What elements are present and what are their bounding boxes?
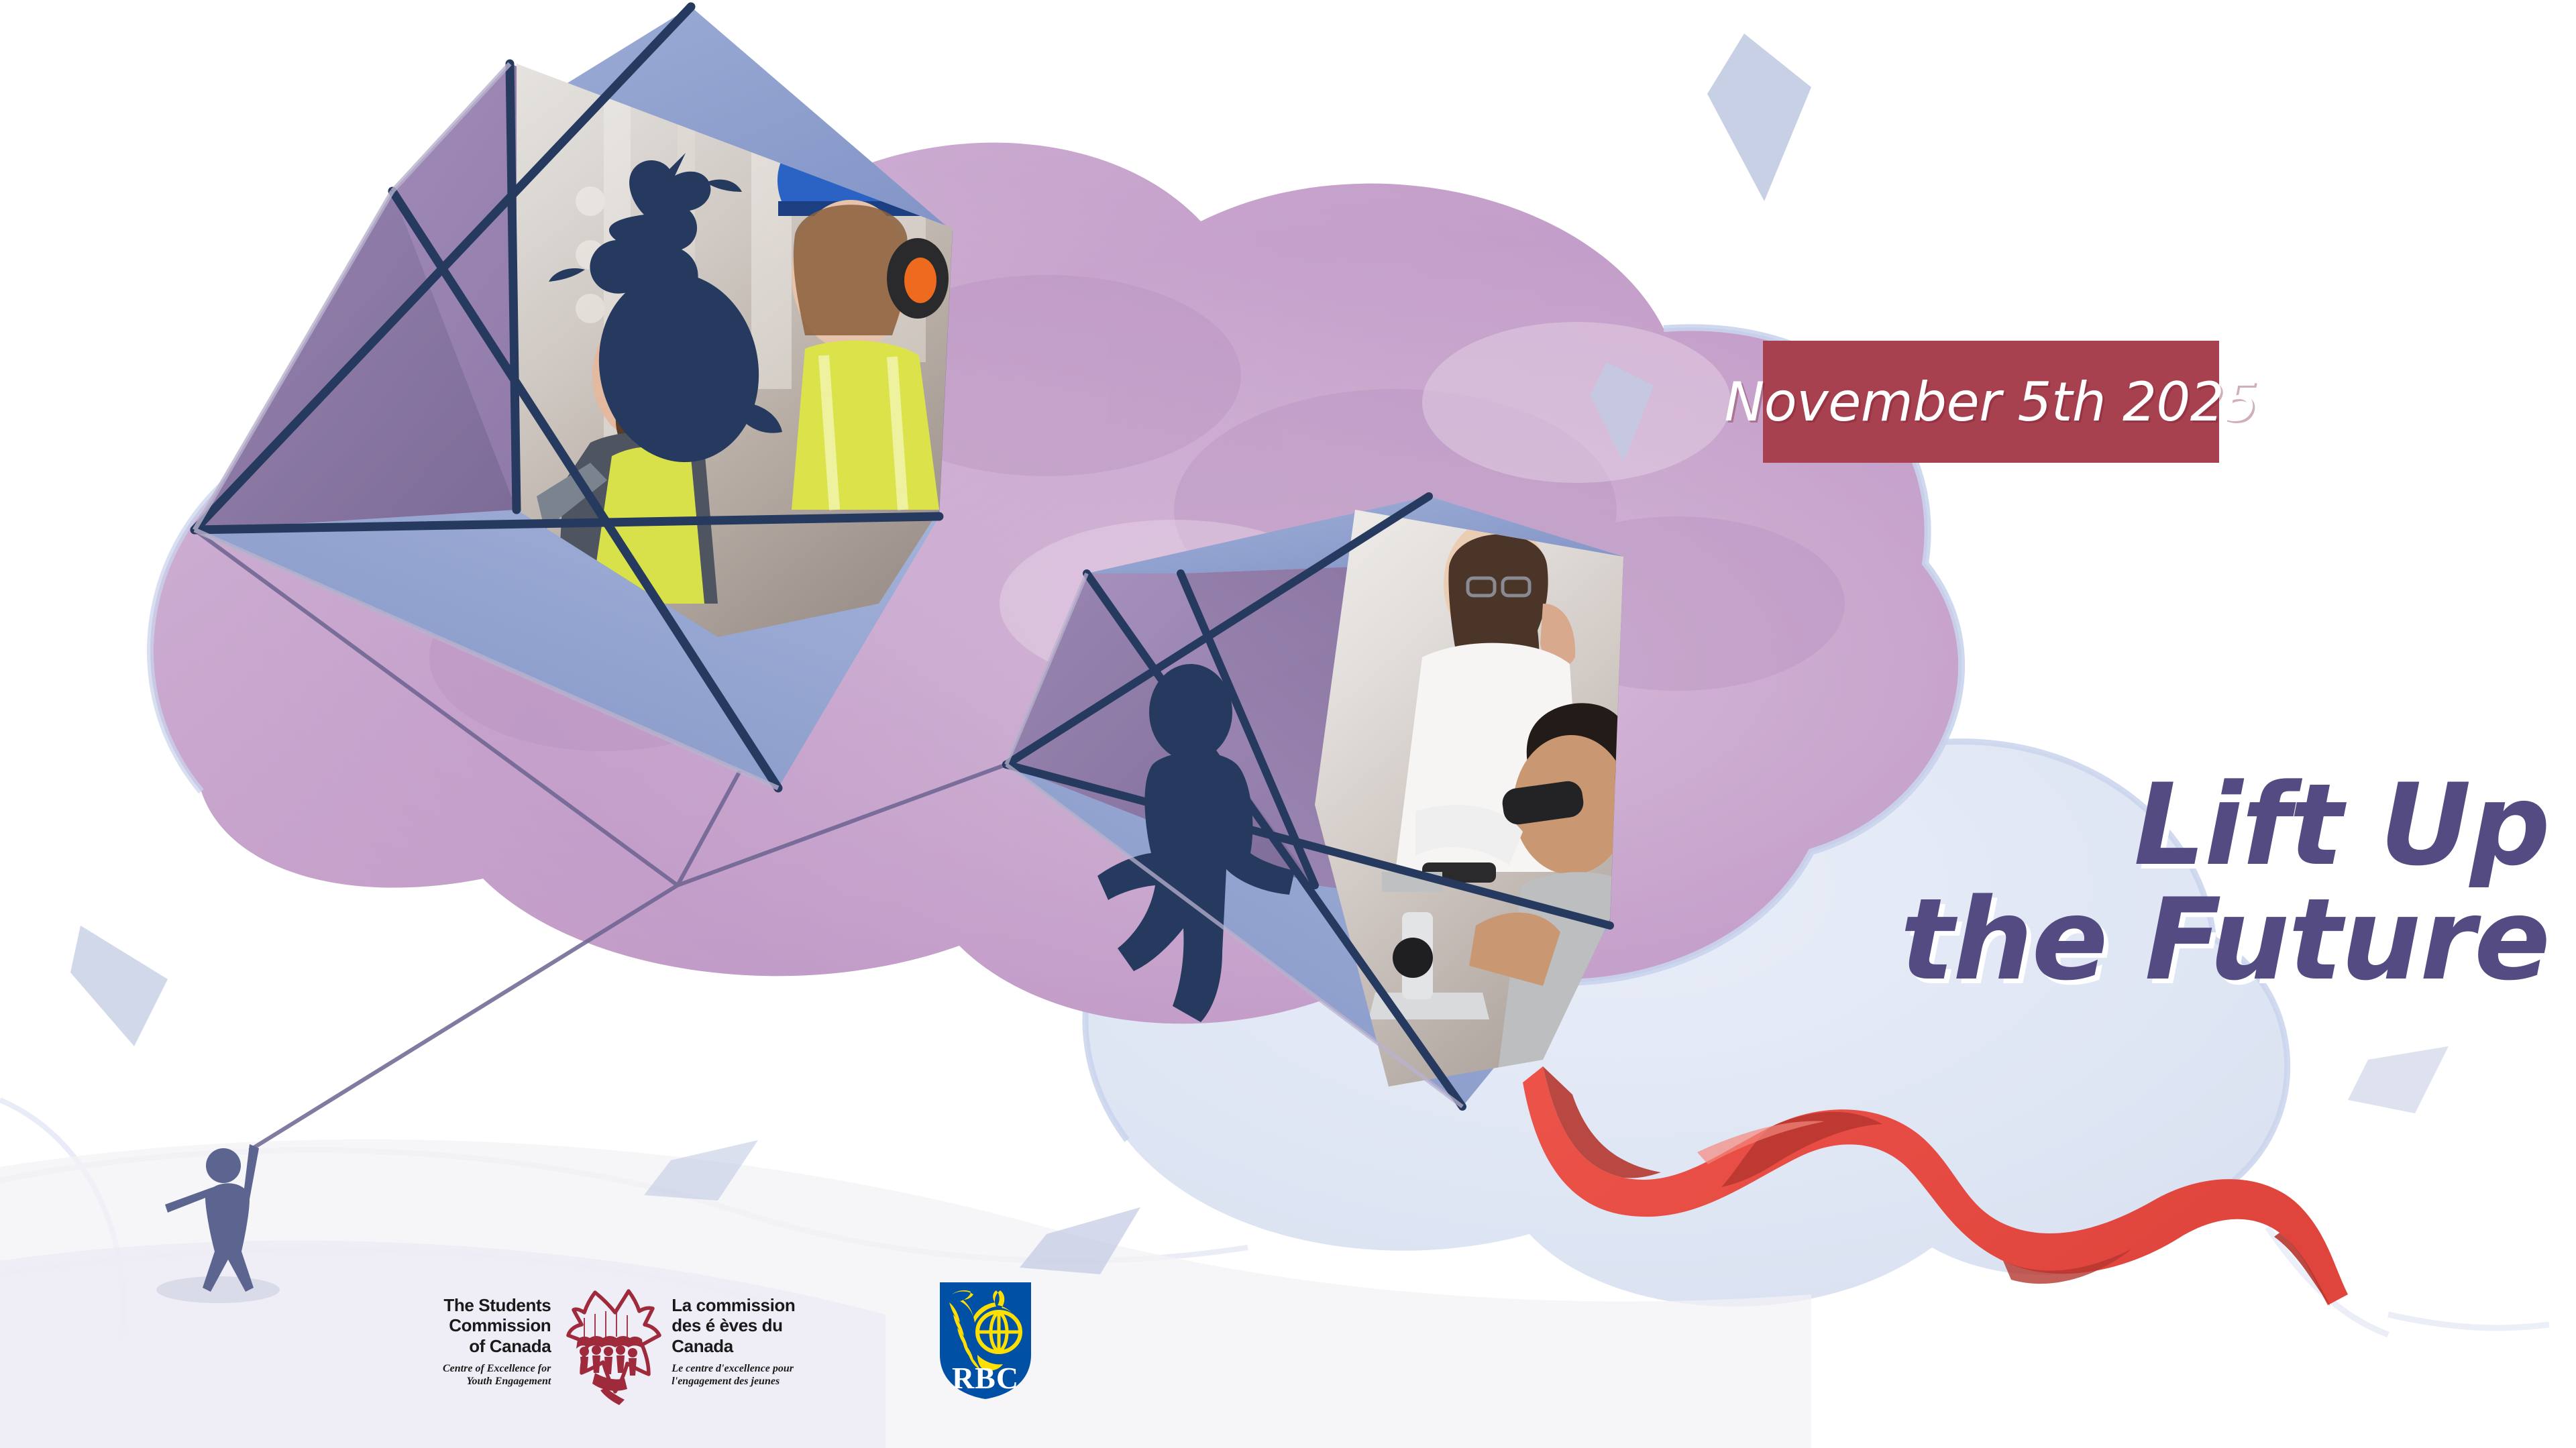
scc-english-tagline: Centre of Excellence for Youth Engagemen… <box>443 1362 551 1388</box>
diamond-6 <box>2348 1046 2449 1113</box>
scc-french-name: La commission des é èves du Canada <box>672 1295 795 1357</box>
scc-english-block: The Students Commission of Canada Centre… <box>443 1295 551 1388</box>
scc-en-tag-1: Centre of Excellence for <box>443 1362 551 1375</box>
scc-fr-line-3: Canada <box>672 1336 795 1357</box>
scc-english-name: The Students Commission of Canada <box>443 1295 551 1357</box>
scc-en-line-3: of Canada <box>443 1336 551 1357</box>
rbc-shield-icon: RBC <box>936 1280 1035 1400</box>
date-banner: November 5th 2025 <box>1763 341 2219 463</box>
scc-en-tag-2: Youth Engagement <box>443 1375 551 1388</box>
scc-fr-line-2: des é èves du <box>672 1315 795 1336</box>
page-title: Lift Up the Future <box>1677 768 2549 998</box>
flyer-shadow <box>156 1276 280 1303</box>
rbc-logo[interactable]: RBC <box>936 1280 1035 1404</box>
scc-fr-line-1: La commission <box>672 1295 795 1316</box>
rbc-wordmark: RBC <box>952 1361 1019 1395</box>
scc-fr-tag-1: Le centre d'excellence pour <box>672 1362 795 1375</box>
diamond-1 <box>1707 34 1811 201</box>
students-commission-logo[interactable]: The Students Commission of Canada Centre… <box>443 1278 795 1405</box>
background-artwork <box>0 0 2576 1448</box>
scc-french-block: La commission des é èves du Canada Le ce… <box>672 1295 795 1388</box>
scc-en-line-2: Commission <box>443 1315 551 1336</box>
date-banner-text: November 5th 2025 <box>1724 371 2257 433</box>
sponsor-logo-row: The Students Commission of Canada Centre… <box>443 1278 1035 1405</box>
poster-canvas: November 5th 2025 Lift Up the Future The… <box>0 0 2576 1448</box>
headline-line-2: the Future <box>1677 883 2549 997</box>
scc-en-line-1: The Students <box>443 1295 551 1316</box>
maple-leaf-people-icon <box>557 1278 665 1405</box>
scc-french-tagline: Le centre d'excellence pour l'engagement… <box>672 1362 795 1388</box>
string-main <box>250 885 678 1150</box>
scc-fr-tag-2: l'engagement des jeunes <box>672 1375 795 1388</box>
diamond-3 <box>70 926 168 1046</box>
headline-line-1: Lift Up <box>1677 768 2549 883</box>
